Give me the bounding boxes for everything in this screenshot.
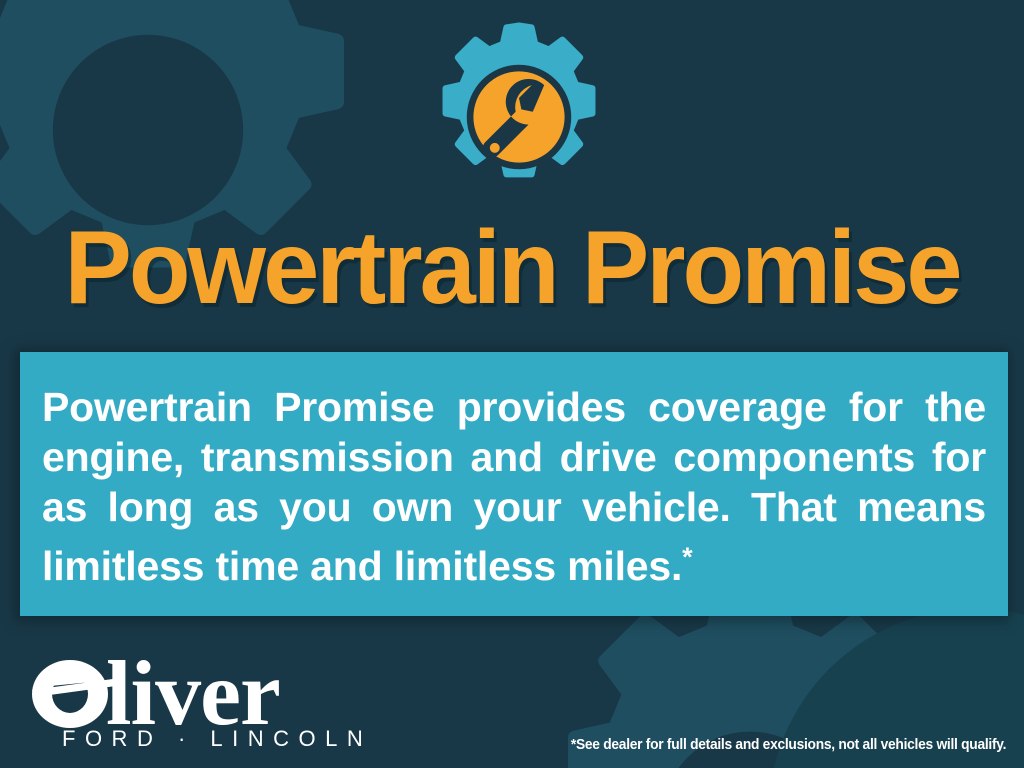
logo-brands-label: FORD · LINCOLN xyxy=(62,726,372,752)
promise-body-copy: Powertrain Promise provides coverage for… xyxy=(42,384,986,589)
oliver-wordmark: liver xyxy=(28,638,328,730)
promise-description-text: Powertrain Promise provides coverage for… xyxy=(42,382,986,591)
disclaimer-text: *See dealer for full details and exclusi… xyxy=(571,736,1006,753)
gear-wrench-icon xyxy=(424,22,614,212)
powertrain-promise-poster: Powertrain Promise Powertrain Promise pr… xyxy=(0,0,1024,768)
oliver-ford-lincoln-logo: liver FORD · LINCOLN xyxy=(28,638,328,760)
svg-text:liver: liver xyxy=(106,642,280,730)
promise-description-panel: Powertrain Promise provides coverage for… xyxy=(20,352,1008,616)
page-title: Powertrain Promise xyxy=(15,216,1008,320)
footnote-asterisk: * xyxy=(682,542,692,572)
